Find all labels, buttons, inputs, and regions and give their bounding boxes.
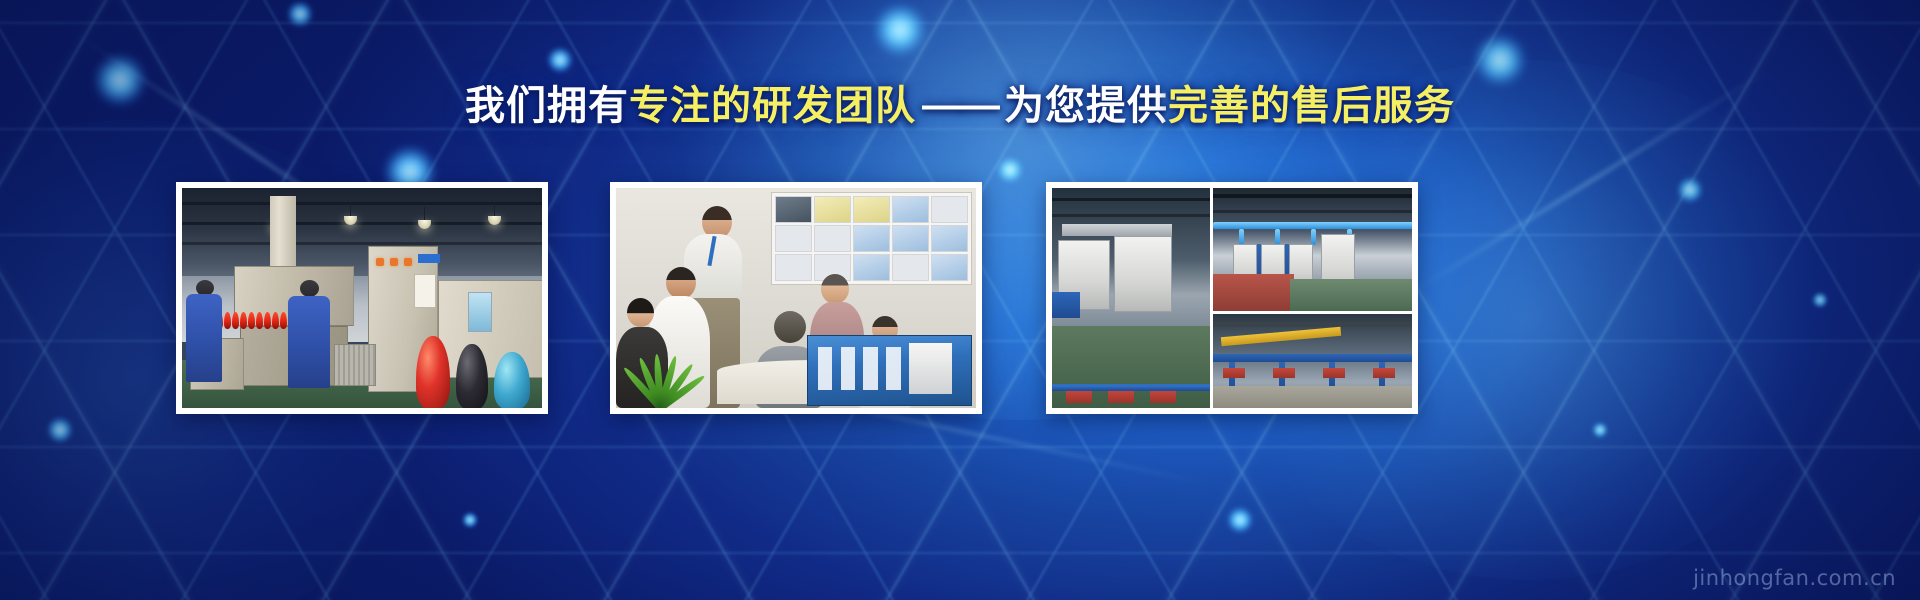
- worker-figure-right: [288, 296, 330, 388]
- poster-cell: [892, 254, 929, 281]
- collage-grid: [1052, 188, 1412, 408]
- workshop-floor: [1213, 386, 1412, 408]
- pipe-drop: [1275, 229, 1280, 245]
- technical-poster-board: [771, 192, 973, 284]
- production-line-photo: [182, 188, 542, 408]
- equipment-part: [818, 347, 833, 389]
- red-vase-item: [272, 312, 279, 329]
- red-epoxy-floor: [1213, 274, 1294, 311]
- roof-beam: [1213, 210, 1412, 213]
- blue-equipment-unit: [1052, 292, 1080, 318]
- red-vase-item: [264, 312, 271, 329]
- page-title: 我们拥有专注的研发团队——为您提供完善的售后服务: [0, 84, 1920, 128]
- cabinet-doc-sheet: [414, 274, 436, 308]
- ceiling-beam: [182, 242, 542, 245]
- poster-cell: [931, 225, 968, 252]
- plastic-crate: [334, 344, 376, 386]
- ceiling-beam: [182, 202, 542, 205]
- red-vase-item: [256, 312, 263, 329]
- red-fixture: [1323, 368, 1345, 378]
- poster-cell: [775, 196, 812, 223]
- red-fixture: [1273, 368, 1295, 378]
- headline-segment-2: 专注的研发团队: [629, 84, 916, 128]
- showcase-vase-blue: [494, 352, 530, 408]
- poster-cell: [853, 254, 890, 281]
- red-trolley: [1066, 390, 1092, 403]
- headline-separator-dash: ——: [916, 83, 1004, 127]
- equipment-model-display: [807, 335, 973, 405]
- green-epoxy-floor: [1290, 279, 1412, 311]
- poster-cell: [814, 225, 851, 252]
- control-button-icon: [404, 258, 412, 266]
- rd-team-meeting-photo: [616, 188, 976, 408]
- poster-cell: [775, 225, 812, 252]
- showcase-vase-red: [416, 336, 450, 408]
- equipment-part: [863, 347, 878, 389]
- potted-plant: [620, 333, 714, 408]
- oven-duct: [1062, 224, 1172, 236]
- site-watermark: jinhongfan.com.cn: [1693, 566, 1896, 590]
- red-fixture: [1373, 368, 1395, 378]
- red-trolley: [1150, 390, 1176, 403]
- red-trolley: [1108, 390, 1134, 403]
- poster-cell: [853, 225, 890, 252]
- factory-equipment-collage-photo: [1052, 188, 1412, 408]
- poster-cell: [892, 225, 929, 252]
- red-vase-item: [280, 312, 287, 329]
- roof-beam: [1213, 194, 1412, 198]
- oven-cabinet: [1114, 236, 1172, 312]
- control-button-icon: [376, 258, 384, 266]
- poster-cell: [931, 196, 968, 223]
- cabinet-label-plate: [418, 254, 440, 263]
- poster-cell: [814, 196, 851, 223]
- pipe-drop: [1311, 229, 1316, 245]
- attendee-head: [627, 298, 654, 327]
- poster-cell: [892, 196, 929, 223]
- headline-segment-4: 完善的售后服务: [1168, 84, 1455, 128]
- equipment-part: [886, 347, 901, 389]
- worker-head: [300, 280, 319, 297]
- red-vase-item: [240, 312, 247, 329]
- ceiling-beam: [182, 222, 542, 225]
- worker-figure-left: [186, 294, 222, 382]
- overhead-rail: [1213, 322, 1412, 327]
- yellow-crane-beam: [1221, 327, 1341, 346]
- ceiling-truss: [1052, 198, 1210, 201]
- red-vase-item: [248, 312, 255, 329]
- red-fixture: [1223, 368, 1245, 378]
- collage-photo-workshop-line: [1213, 188, 1412, 311]
- poster-cell: [853, 196, 890, 223]
- oven-window: [468, 292, 492, 332]
- equipment-part: [841, 347, 856, 389]
- ceiling-truss: [1052, 214, 1210, 217]
- product-showcase-overlay: [416, 332, 542, 408]
- photo-panel-group: [0, 182, 1920, 414]
- red-vase-item: [232, 312, 239, 329]
- poster-cell: [931, 254, 968, 281]
- equipment-part: [909, 343, 952, 394]
- photo-panel-equipment-collage[interactable]: [1046, 182, 1418, 414]
- showcase-vase-dark: [456, 344, 488, 408]
- collage-photo-tunnel-oven: [1052, 188, 1210, 408]
- photo-panel-rd-meeting[interactable]: [610, 182, 982, 414]
- blue-conveyor-frame: [1213, 354, 1412, 362]
- attendee-head: [821, 274, 849, 304]
- blue-rail-frame: [1052, 387, 1210, 391]
- control-button-icon: [390, 258, 398, 266]
- collage-photo-conveyor-rack: [1213, 314, 1412, 408]
- poster-cell: [775, 254, 812, 281]
- pipe-drop: [1239, 229, 1244, 245]
- headline-segment-3: 为您提供: [1004, 84, 1168, 128]
- blue-pipe: [1213, 222, 1412, 229]
- red-vase-item: [224, 312, 231, 329]
- exhaust-duct: [270, 196, 296, 274]
- headline-segment-1: 我们拥有: [465, 84, 629, 128]
- photo-panel-production-line[interactable]: [176, 182, 548, 414]
- promo-banner: 我们拥有专注的研发团队——为您提供完善的售后服务: [0, 0, 1920, 600]
